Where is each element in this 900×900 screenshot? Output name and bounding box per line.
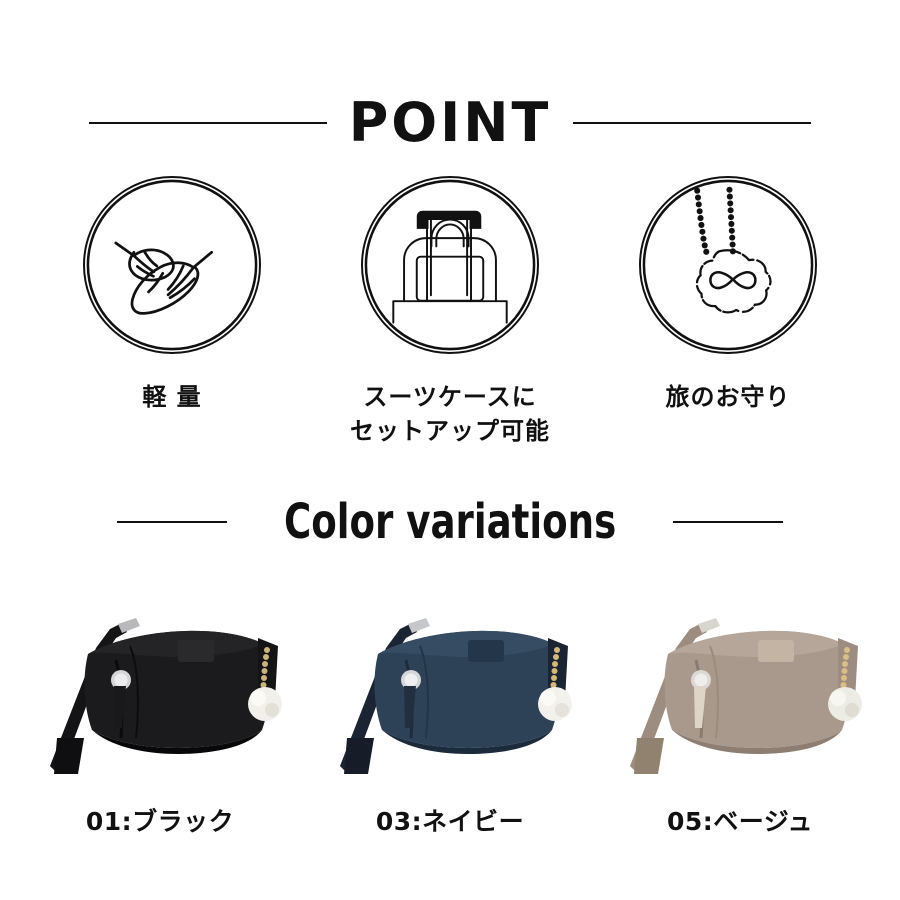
feature-label-suitcase-setup: スーツケースに セットアップ可能	[350, 380, 550, 448]
color-variation-item[interactable]: 03:ネイビー	[305, 588, 595, 838]
feature-label-line-2: セットアップ可能	[350, 417, 550, 445]
feature-item-travel-charm: 旅のお守り	[589, 176, 867, 414]
bag-photo-beige[interactable]	[606, 588, 874, 784]
point-section-heading: POINT	[0, 96, 900, 150]
heading-rule-right	[573, 122, 811, 124]
color-variation-item[interactable]: 01:ブラック	[15, 588, 305, 838]
feature-item-lightweight: 軽 量	[33, 176, 311, 414]
suitcase-setup-icon	[361, 176, 539, 354]
color-label: 03:ネイビー	[376, 802, 524, 838]
feature-label-travel-charm: 旅のお守り	[666, 380, 791, 414]
color-variation-item[interactable]: 05:ベージュ	[595, 588, 885, 838]
feature-item-suitcase-setup: スーツケースに セットアップ可能	[311, 176, 589, 448]
color-variation-list: 01:ブラック 03:ネイビー	[0, 588, 900, 838]
heading-rule-left	[89, 122, 327, 124]
pompom-charm-icon	[639, 176, 817, 354]
color-label: 01:ブラック	[86, 802, 234, 838]
feature-label-lightweight: 軽 量	[142, 380, 201, 414]
bag-photo-black[interactable]	[26, 588, 294, 784]
feathers-icon	[83, 176, 261, 354]
bag-photo-navy[interactable]	[316, 588, 584, 784]
color-heading-rule-left	[117, 521, 227, 523]
color-variations-title: Color variations	[258, 498, 642, 546]
color-variations-heading: Color variations	[0, 498, 900, 546]
feature-list: 軽 量 スーツケ	[0, 176, 900, 448]
color-heading-rule-right	[673, 521, 783, 523]
color-label: 05:ベージュ	[667, 802, 813, 838]
feature-label-line-1: スーツケースに	[363, 383, 536, 411]
page-title: POINT	[327, 96, 574, 150]
